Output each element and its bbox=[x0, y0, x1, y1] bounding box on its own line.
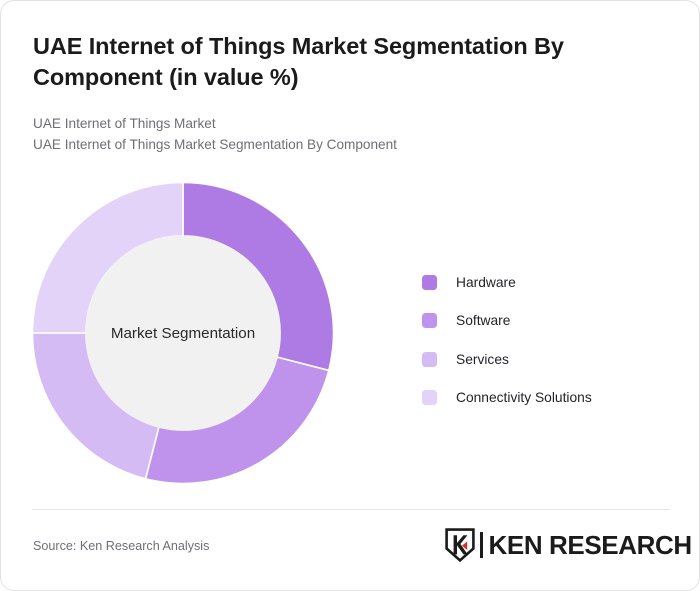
ken-research-shield-k-icon bbox=[445, 528, 475, 562]
legend-swatch-icon bbox=[422, 352, 437, 367]
legend-item[interactable]: Software bbox=[422, 302, 592, 341]
donut-chart: Market Segmentation bbox=[32, 182, 334, 484]
legend-item[interactable]: Services bbox=[422, 340, 592, 379]
legend-swatch-icon bbox=[422, 275, 437, 290]
logo-wordmark: KEN RESEARCH bbox=[489, 532, 692, 558]
legend-swatch-icon bbox=[422, 313, 437, 328]
ken-research-logo: KEN RESEARCH bbox=[445, 526, 692, 564]
legend-item-label: Services bbox=[456, 352, 509, 367]
vertical-divider-icon bbox=[480, 532, 483, 558]
chart-legend: HardwareSoftwareServicesConnectivity Sol… bbox=[422, 263, 592, 417]
legend-item-label: Software bbox=[456, 313, 510, 328]
legend-swatch-icon bbox=[422, 390, 437, 405]
donut-chart-svg bbox=[32, 182, 334, 484]
subtitle-block: UAE Internet of Things Market UAE Intern… bbox=[33, 113, 633, 155]
legend-item-label: Hardware bbox=[456, 275, 516, 290]
subtitle-line-market: UAE Internet of Things Market bbox=[33, 113, 633, 134]
footer-divider bbox=[32, 509, 670, 510]
legend-item[interactable]: Hardware bbox=[422, 263, 592, 302]
legend-item-label: Connectivity Solutions bbox=[456, 390, 592, 405]
legend-item[interactable]: Connectivity Solutions bbox=[422, 379, 592, 418]
donut-hole bbox=[86, 236, 281, 431]
subtitle-line-segmentation: UAE Internet of Things Market Segmentati… bbox=[33, 134, 633, 155]
page-title: UAE Internet of Things Market Segmentati… bbox=[33, 31, 613, 93]
chart-card: UAE Internet of Things Market Segmentati… bbox=[0, 0, 700, 591]
source-note: Source: Ken Research Analysis bbox=[33, 539, 209, 553]
